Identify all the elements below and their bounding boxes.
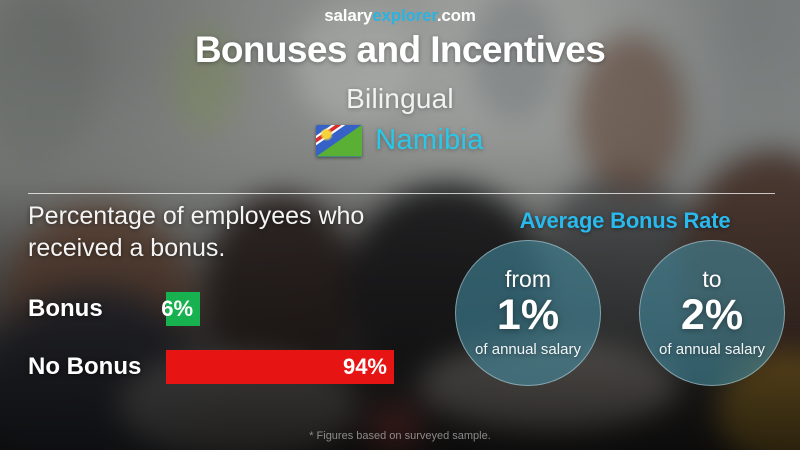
circle-from-value: 1% [497,293,559,338]
bar-label-no-bonus: No Bonus [28,353,166,381]
bar-label-bonus: Bonus [28,295,166,323]
logo-part-salary: salary [324,6,372,25]
site-logo[interactable]: salaryexplorer.com [0,6,800,26]
circle-to-caption: to [702,268,721,291]
bonus-rate-circle-from: from 1% of annual salary [455,240,601,386]
logo-part-domain: .com [437,6,476,25]
left-panel-lead: Percentage of employees who received a b… [28,200,448,264]
circle-from-sublabel: of annual salary [475,341,581,358]
bar-row-no-bonus: No Bonus 94% [28,350,394,384]
circle-from-caption: from [505,268,551,291]
average-bonus-rate-heading: Average Bonus Rate [470,208,780,234]
country-row: Namibia [0,124,800,157]
infographic-canvas: salaryexplorer.com Bonuses and Incentive… [0,0,800,450]
country-label: Namibia [375,124,483,157]
bar-row-bonus: Bonus 6% [28,292,200,326]
header-divider [28,193,775,194]
circle-to-value: 2% [681,293,743,338]
page-subtitle: Bilingual [0,83,800,115]
bar-fill-bonus: 6% [166,292,200,326]
circle-to-sublabel: of annual salary [659,341,765,358]
namibia-flag-icon [316,125,362,157]
bonus-rate-circle-to: to 2% of annual salary [639,240,785,386]
footnote: * Figures based on surveyed sample. [0,430,800,442]
logo-part-explorer: explorer [372,6,437,25]
bar-fill-no-bonus: 94% [166,350,394,384]
page-title: Bonuses and Incentives [0,29,800,71]
